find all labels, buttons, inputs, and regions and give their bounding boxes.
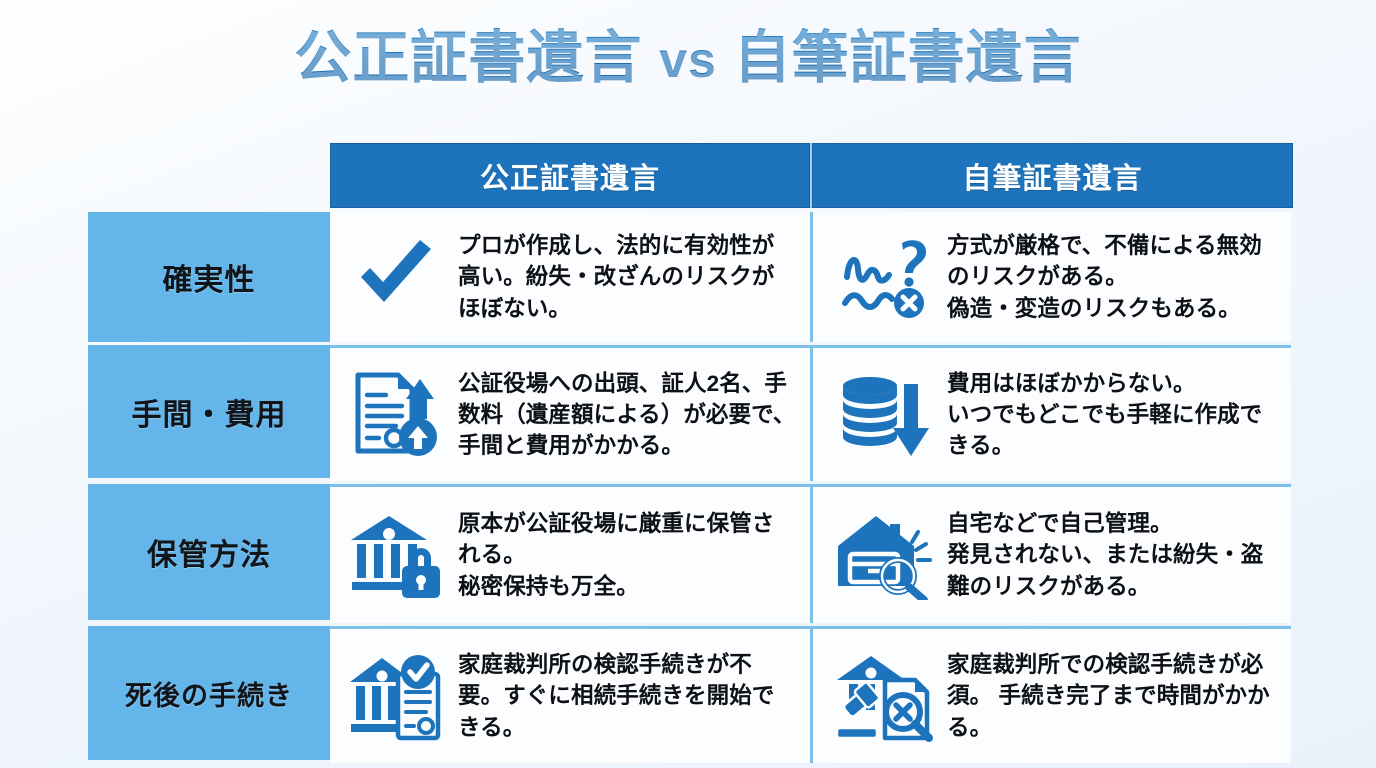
row-label-post-death: 死後の手続き <box>88 626 330 760</box>
row-cells: プロが作成し、法的に有効性が高い。紛失・改ざんのリスクがほぼない。 <box>330 212 1291 342</box>
comparison-table: 公正証書遺言 自筆証書遺言 確実性 プロが作成し、法的に有効性が高い。紛失・改ざ… <box>88 143 1291 748</box>
document-up-arrow-icon <box>348 367 444 463</box>
check-mark-icon <box>348 229 444 325</box>
bank-lock-icon <box>348 507 444 603</box>
column-header-jihitsu: 自筆証書遺言 <box>810 143 1293 208</box>
title-left: 公正証書遺言 <box>294 26 642 90</box>
coins-down-arrow-icon <box>837 367 933 463</box>
title-vs: vs <box>659 32 717 88</box>
cell-storage-kousei: 原本が公証役場に厳重に保管される。 秘密保持も万全。 <box>330 487 810 623</box>
cell-text: 自宅などで自己管理。 発見されない、または紛失・盗難のリスクがある。 <box>947 508 1277 601</box>
row-cells: 原本が公証役場に厳重に保管される。 秘密保持も万全。 <box>330 484 1291 623</box>
cell-text: 家庭裁判所の検認手続きが不要。すぐに相続手続きを開始できる。 <box>458 649 796 742</box>
cell-text: 方式が厳格で、不備による無効のリスクがある。 偽造・変造のリスクもある。 <box>947 230 1277 323</box>
cell-certainty-jihitsu: 方式が厳格で、不備による無効のリスクがある。 偽造・変造のリスクもある。 <box>810 212 1291 342</box>
table-row: 手間・費用 <box>88 345 1291 481</box>
row-cells: 公証役場への出頭、証人2名、手数料（遺産額による）が必要で、手間と費用がかかる。 <box>330 345 1291 481</box>
cell-cost-kousei: 公証役場への出頭、証人2名、手数料（遺産額による）が必要で、手間と費用がかかる。 <box>330 348 810 481</box>
courthouse-gavel-document-x-icon <box>837 648 933 744</box>
handwriting-question-error-icon <box>837 229 933 325</box>
row-label-certainty: 確実性 <box>88 212 330 342</box>
house-box-search-icon <box>837 507 933 603</box>
cell-text: 費用はほぼかからない。 いつでもどこでも手軽に作成できる。 <box>947 368 1277 461</box>
row-label-cost: 手間・費用 <box>88 345 330 478</box>
title-text: 公正証書遺言 vs 自筆証書遺言 <box>294 26 1081 92</box>
table-row: 死後の手続き <box>88 626 1291 763</box>
row-label-storage: 保管方法 <box>88 484 330 620</box>
table-row: 確実性 プロが作成し、法的に有効性が高い。紛失・改ざんのリスクがほぼない。 <box>88 212 1291 342</box>
cell-post-death-kousei: 家庭裁判所の検認手続きが不要。すぐに相続手続きを開始できる。 <box>330 629 810 763</box>
cell-certainty-kousei: プロが作成し、法的に有効性が高い。紛失・改ざんのリスクがほぼない。 <box>330 212 810 342</box>
cell-text: 公証役場への出頭、証人2名、手数料（遺産額による）が必要で、手間と費用がかかる。 <box>458 368 796 461</box>
cell-post-death-jihitsu: 家庭裁判所での検認手続きが必須。 手続き完了まで時間がかかる。 <box>810 629 1291 763</box>
column-header-kousei: 公正証書遺言 <box>330 143 810 208</box>
cell-text: プロが作成し、法的に有効性が高い。紛失・改ざんのリスクがほぼない。 <box>458 230 796 323</box>
table-body: 確実性 プロが作成し、法的に有効性が高い。紛失・改ざんのリスクがほぼない。 <box>88 212 1291 763</box>
courthouse-document-check-icon <box>348 648 444 744</box>
cell-text: 家庭裁判所での検認手続きが必須。 手続き完了まで時間がかかる。 <box>947 649 1277 742</box>
table-row: 保管方法 <box>88 484 1291 623</box>
cell-cost-jihitsu: 費用はほぼかからない。 いつでもどこでも手軽に作成できる。 <box>810 348 1291 481</box>
row-cells: 家庭裁判所の検認手続きが不要。すぐに相続手続きを開始できる。 <box>330 626 1291 763</box>
page-title: 公正証書遺言 vs 自筆証書遺言 <box>0 26 1376 92</box>
cell-storage-jihitsu: 自宅などで自己管理。 発見されない、または紛失・盗難のリスクがある。 <box>810 487 1291 623</box>
title-right: 自筆証書遺言 <box>734 26 1082 90</box>
cell-text: 原本が公証役場に厳重に保管される。 秘密保持も万全。 <box>458 508 796 601</box>
table-header-row: 公正証書遺言 自筆証書遺言 <box>330 143 1291 208</box>
